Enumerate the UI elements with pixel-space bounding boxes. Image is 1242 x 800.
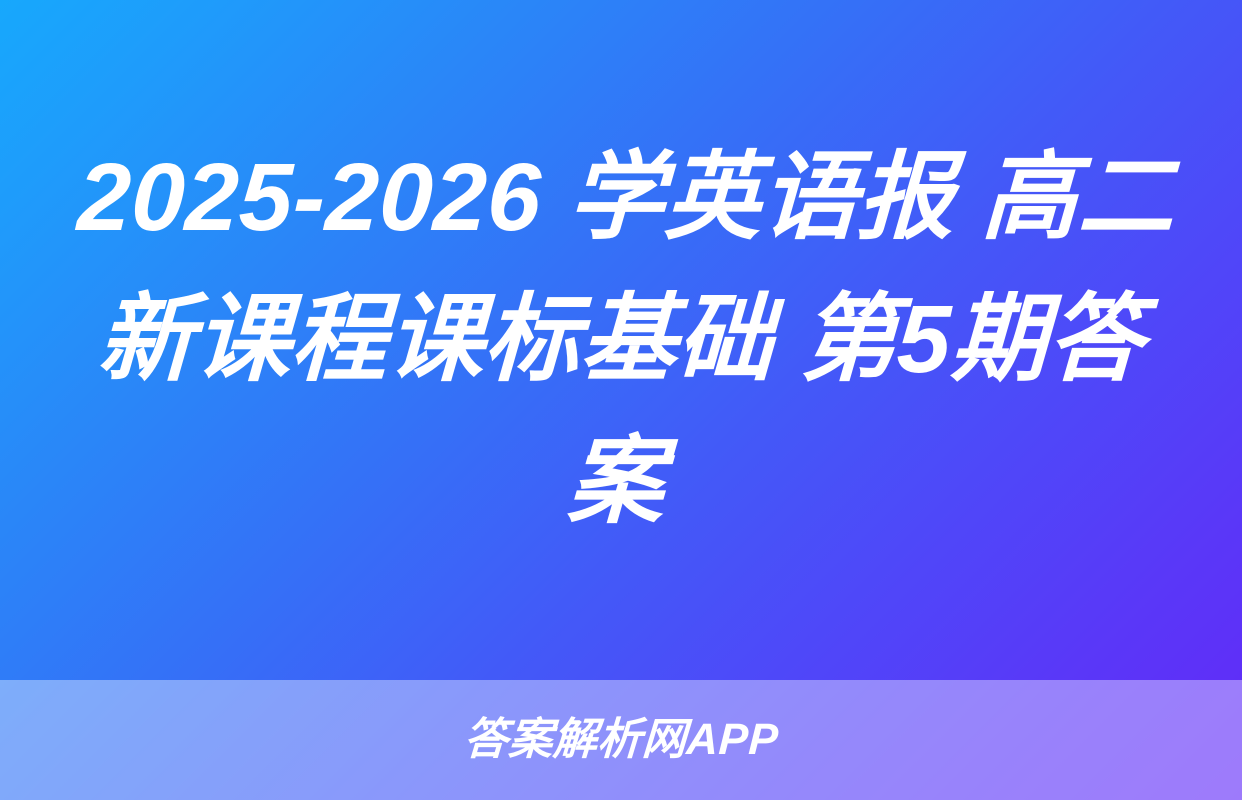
page-title: 2025-2026 学英语报 高二 新课程课标基础 第5期答案: [53, 127, 1190, 553]
app-brand-label: 答案解析网APP: [463, 718, 780, 762]
headline-container: 2025-2026 学英语报 高二 新课程课标基础 第5期答案: [0, 0, 1242, 680]
footer-brand-band: 答案解析网APP: [0, 680, 1242, 800]
poster-canvas: 2025-2026 学英语报 高二 新课程课标基础 第5期答案 答案解析网APP: [0, 0, 1242, 800]
